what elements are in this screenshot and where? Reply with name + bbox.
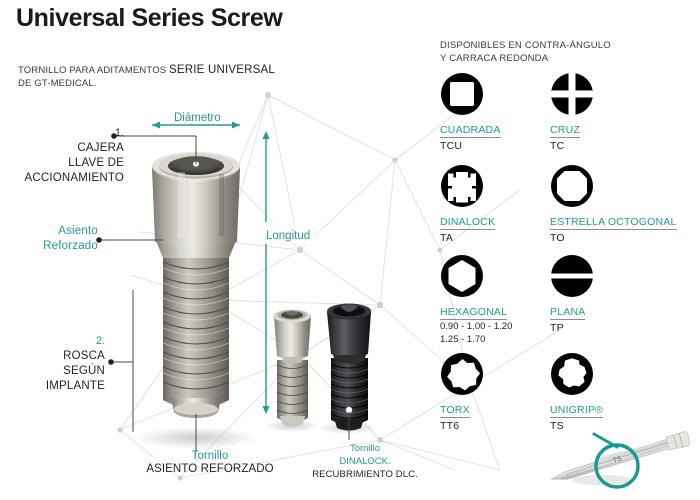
connection-sizes-hexagonal-line1: 0.90 - 1.00 - 1.20: [440, 321, 555, 333]
connection-cell-unigrip[interactable]: UNIGRIP® TS: [550, 352, 665, 422]
connection-cell-cruz[interactable]: CRUZ TC: [550, 72, 665, 164]
connection-cell-dinalock[interactable]: DINALOCK TA: [440, 164, 555, 254]
caption-b-teal2: DINALOCK.: [300, 455, 430, 468]
caption-a-teal: Tornillo: [110, 450, 310, 463]
connection-code-tt6: TT6: [440, 420, 555, 432]
connection-name-torx: TORX: [440, 404, 470, 418]
length-dimension-label: Longitud: [266, 230, 310, 242]
connection-code-tc: TC: [550, 140, 665, 152]
flat-socket-icon: [550, 254, 665, 302]
connection-sizes-hexagonal-line2: 1.25 - 1.70: [440, 334, 555, 346]
callout-cajera-llave: 1. CAJERA LLAVE DE ACCIONAMIENTO: [14, 126, 124, 186]
connection-cell-plana[interactable]: PLANA TP: [550, 254, 665, 352]
connection-row-4: TORX TT6 UNIGRIP® TS: [440, 352, 690, 422]
torx-socket-icon: [440, 352, 555, 400]
connection-cell-hexagonal[interactable]: HEXAGONAL 0.90 - 1.00 - 1.20 1.25 - 1.70: [440, 254, 555, 352]
caption-b-teal1: Tornillo: [300, 442, 430, 455]
cross-socket-icon: [550, 72, 665, 120]
connection-name-dinalock: DINALOCK: [440, 216, 495, 230]
subtitle-line1-big: SERIE UNIVERSAL: [169, 64, 275, 76]
callout-3-line2: SEGÚN: [10, 364, 105, 379]
caption-a-dark: ASIENTO REFORZADO: [110, 463, 310, 476]
connection-cell-torx[interactable]: TORX TT6: [440, 352, 555, 422]
hexagonal-socket-icon: [440, 254, 555, 302]
subtitle-line1-small: TORNILLO PARA ADITAMENTOS: [18, 65, 166, 76]
callout-asiento-reforzado: Asiento Reforzado: [8, 224, 98, 254]
connection-name-hexagonal: HEXAGONAL: [440, 306, 507, 320]
product-infographic-page: Universal Series Screw TORNILLO PARA ADI…: [0, 0, 700, 500]
connection-code-tcu: TCU: [440, 140, 555, 152]
connection-code-tp: TP: [550, 322, 665, 334]
connection-name-plana: PLANA: [550, 306, 585, 320]
connection-cell-estrella-octogonal[interactable]: ESTRELLA OCTOGONAL TO: [550, 164, 665, 254]
caption-tornillo-asiento-reforzado: Tornillo ASIENTO REFORZADO: [110, 450, 310, 476]
callout-3-line1: ROSCA: [10, 349, 105, 364]
callout-number-1: 1.: [14, 126, 124, 141]
connection-row-2: DINALOCK TA ESTRELLA OCTOGONAL TO: [440, 164, 690, 254]
subtitle-line2: DE GT-MEDICAL.: [18, 77, 275, 90]
callout-rosca-segun-implante: 2. ROSCA SEGÚN IMPLANTE: [10, 334, 105, 394]
connection-name-unigrip: UNIGRIP®: [550, 404, 603, 418]
callout-2-line1: Asiento: [8, 224, 98, 239]
caption-tornillo-dinalock: Tornillo DINALOCK. RECUBRIMIENTO DLC.: [300, 442, 430, 481]
connection-code-ta: TA: [440, 232, 555, 244]
callout-3-line3: IMPLANTE: [10, 379, 105, 394]
square-socket-icon: [440, 72, 555, 120]
availability-line1: DISPONIBLES EN CONTRA-ÁNGULO: [440, 40, 611, 53]
callout-1-line2: LLAVE DE: [14, 156, 124, 171]
diameter-dimension-label: Diámetro: [174, 112, 221, 124]
connection-types-grid: CUADRADA TCU CRUZ TC: [440, 72, 690, 422]
callout-2-line2: Reforzado: [8, 239, 98, 254]
octagonal-star-socket-icon: [550, 164, 665, 212]
product-subtitle: TORNILLO PARA ADITAMENTOS SERIE UNIVERSA…: [18, 64, 275, 90]
availability-header: DISPONIBLES EN CONTRA-ÁNGULO Y CARRACA R…: [440, 40, 611, 65]
unigrip-socket-icon: [550, 352, 665, 400]
connection-name-cuadrada: CUADRADA: [440, 124, 501, 138]
connection-row-1: CUADRADA TCU CRUZ TC: [440, 72, 690, 164]
connection-name-cruz: CRUZ: [550, 124, 580, 138]
dinalock-socket-icon: [440, 164, 555, 212]
connection-name-estrella-octogonal: ESTRELLA OCTOGONAL: [550, 216, 677, 230]
callout-number-2: 2.: [10, 334, 105, 349]
page-title: Universal Series Screw: [16, 4, 282, 33]
driver-tool-illustration: TS: [540, 420, 700, 500]
callout-1-line3: ACCIONAMIENTO: [14, 171, 124, 186]
availability-line2: Y CARRACA REDONDA: [440, 53, 611, 66]
connection-row-3: HEXAGONAL 0.90 - 1.00 - 1.20 1.25 - 1.70…: [440, 254, 690, 352]
caption-b-dark: RECUBRIMIENTO DLC.: [300, 468, 430, 481]
callout-1-line1: CAJERA: [14, 141, 124, 156]
connection-code-to: TO: [550, 232, 665, 244]
connection-cell-cuadrada[interactable]: CUADRADA TCU: [440, 72, 555, 164]
